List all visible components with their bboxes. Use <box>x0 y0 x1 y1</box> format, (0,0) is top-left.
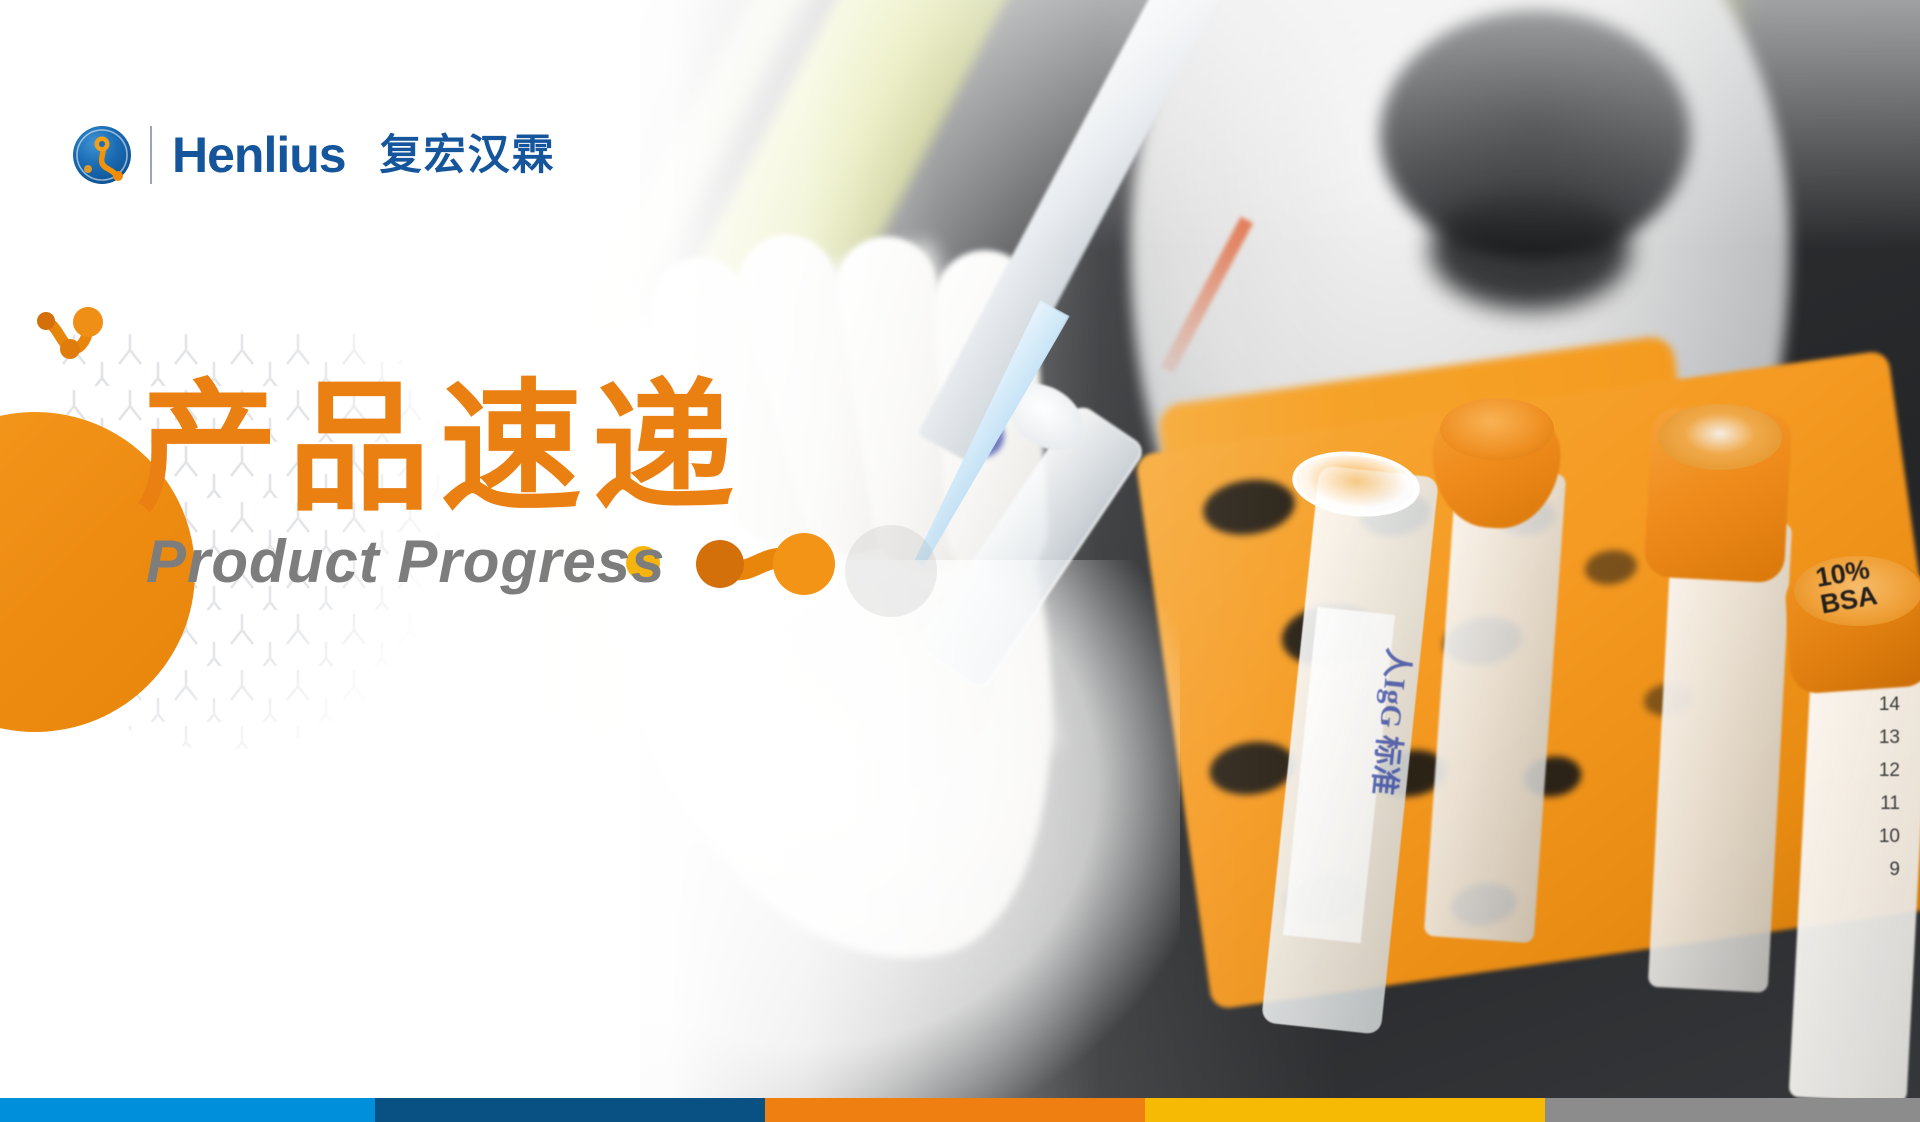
page-title-chinese: 产品速递 <box>136 374 744 524</box>
photo-tube-far-right <box>1648 517 1792 993</box>
bar-segment-orange <box>765 1098 1145 1122</box>
page-subtitle-english: Product Progress <box>146 527 665 597</box>
bar-segment-grey <box>1545 1098 1920 1122</box>
photo-tube-graduations: 14131211109 <box>1856 688 1900 886</box>
logo-divider <box>150 126 152 184</box>
henlius-logo-mark-icon <box>72 125 132 185</box>
photo-bsa-tube <box>1789 657 1920 1098</box>
photo-tube-cap-top-back <box>1440 398 1554 460</box>
bar-segment-amber <box>1145 1098 1545 1122</box>
photo-tube-cap-top-far-right <box>1658 404 1782 470</box>
brand-logo[interactable]: Henlius 复宏汉霖 <box>72 122 556 188</box>
molecule-accent-large-icon <box>694 522 844 604</box>
bottom-color-bar <box>0 1098 1920 1122</box>
bar-segment-dark-blue <box>375 1098 765 1122</box>
logo-chinese-name: 复宏汉霖 <box>380 134 556 176</box>
presentation-cover-slide: 人IgG 标准 14131211109 10% BSA <box>0 0 1920 1122</box>
logo-wordmark: Henlius <box>172 130 346 180</box>
ghost-accent-circle <box>845 525 937 617</box>
photo-bsa-marker-text: 10% BSA <box>1814 555 1880 618</box>
molecule-accent-small-icon <box>28 300 108 372</box>
bar-segment-light-blue <box>0 1098 375 1122</box>
